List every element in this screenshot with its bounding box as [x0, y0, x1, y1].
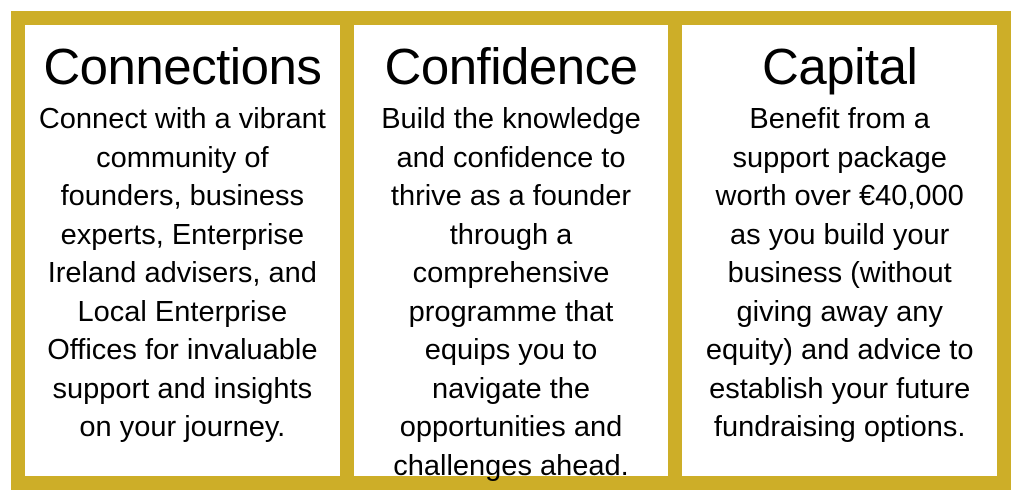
column-body-capital: Benefit from a support package worth ove…	[701, 100, 979, 447]
column-connections: Connections Connect with a vibrant commu…	[25, 25, 340, 476]
column-confidence: Confidence Build the knowledge and confi…	[354, 25, 669, 476]
column-divider-2	[668, 25, 682, 476]
column-body-connections: Connect with a vibrant community of foun…	[37, 100, 327, 447]
column-heading-capital: Capital	[762, 39, 917, 94]
three-column-infographic: Connections Connect with a vibrant commu…	[11, 11, 1011, 490]
column-heading-connections: Connections	[43, 39, 321, 94]
column-body-confidence: Build the knowledge and confidence to th…	[368, 100, 655, 485]
column-capital: Capital Benefit from a support package w…	[682, 25, 997, 476]
column-divider-1	[340, 25, 354, 476]
column-heading-confidence: Confidence	[385, 39, 638, 94]
